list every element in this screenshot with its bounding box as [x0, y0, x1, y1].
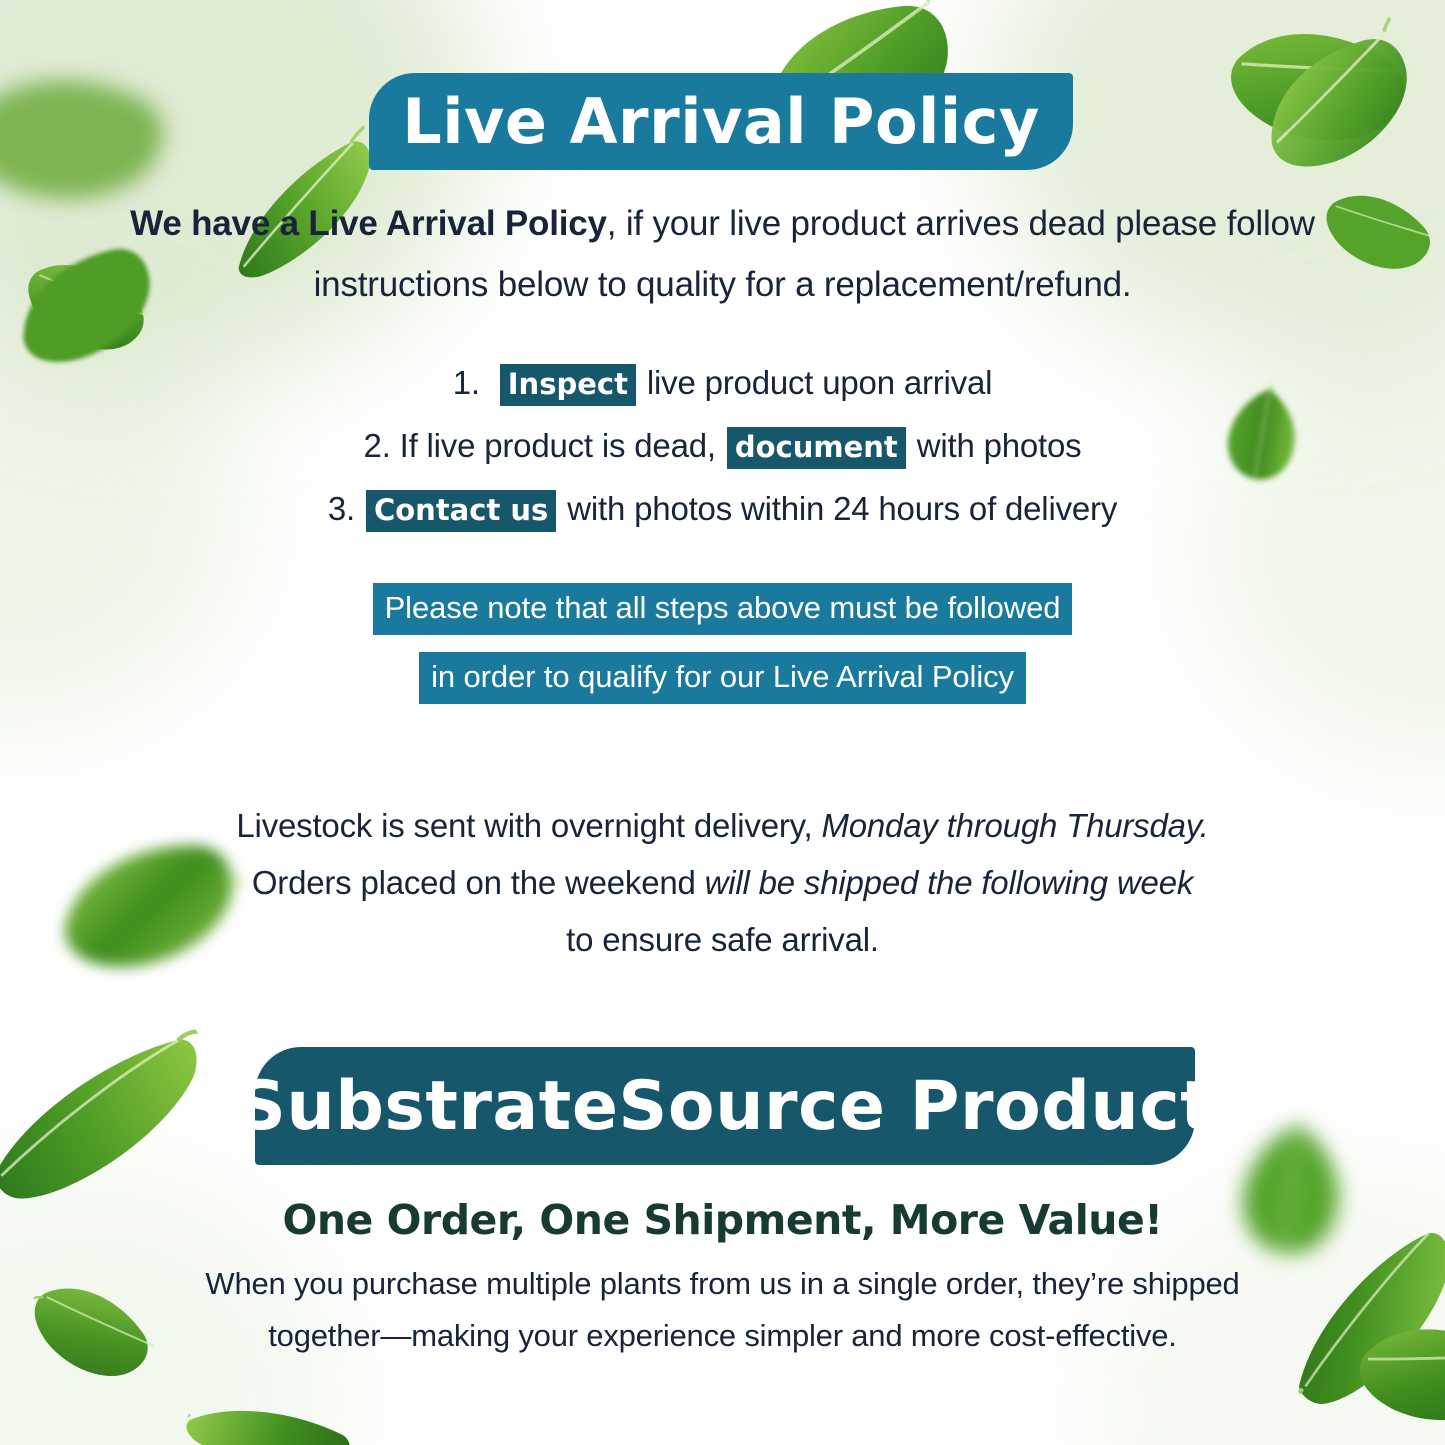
step-2-number: 2.	[364, 427, 391, 464]
intro-paragraph: We have a Live Arrival Policy, if your l…	[0, 193, 1445, 315]
live-arrival-policy-infographic: Live Arrival Policy We have a Live Arriv…	[0, 0, 1445, 1445]
value-proposition-paragraph: When you purchase multiple plants from u…	[0, 1258, 1445, 1362]
shipping-line-2-italic: will be shipped the following week	[705, 864, 1194, 901]
step-1-number: 1.	[453, 364, 480, 401]
policy-note-block: Please note that all steps above must be…	[0, 583, 1445, 721]
policy-steps-list: 1. Inspect live product upon arrival 2. …	[0, 352, 1445, 541]
value-body-line-1: When you purchase multiple plants from u…	[0, 1258, 1445, 1310]
step-2-before: If live product is dead,	[400, 427, 716, 464]
value-proposition-heading: One Order, One Shipment, More Value!	[0, 1192, 1445, 1248]
shipping-line-2-normal: Orders placed on the weekend	[252, 864, 696, 901]
shipping-line-3: to ensure safe arrival.	[0, 911, 1445, 968]
policy-step-2: 2. If live product is dead, document wit…	[0, 415, 1445, 478]
shipping-schedule-paragraph: Livestock is sent with overnight deliver…	[0, 797, 1445, 968]
live-arrival-policy-title: Live Arrival Policy	[402, 85, 1040, 158]
intro-line-1-rest: , if your live product arrives dead plea…	[607, 204, 1315, 243]
step-1-keyword: Inspect	[500, 364, 636, 406]
intro-line-1: We have a Live Arrival Policy, if your l…	[0, 193, 1445, 254]
policy-note-line-2: in order to qualify for our Live Arrival…	[419, 652, 1026, 704]
step-3-keyword: Contact us	[366, 490, 556, 532]
policy-step-1: 1. Inspect live product upon arrival	[0, 352, 1445, 415]
step-3-after: with photos within 24 hours of delivery	[567, 490, 1117, 527]
intro-bold-phrase: We have a Live Arrival Policy	[130, 204, 607, 243]
policy-step-3: 3. Contact us with photos within 24 hour…	[0, 478, 1445, 541]
shipping-line-1-normal: Livestock is sent with overnight deliver…	[236, 807, 812, 844]
intro-line-2: instructions below to quality for a repl…	[0, 254, 1445, 315]
value-body-line-2: together—making your experience simpler …	[0, 1310, 1445, 1362]
step-1-after: live product upon arrival	[647, 364, 992, 401]
substrate-source-product-banner: SubstrateSource Product	[255, 1047, 1195, 1165]
shipping-line-1-italic: Monday through Thursday.	[821, 807, 1208, 844]
policy-note-row-2: in order to qualify for our Live Arrival…	[0, 652, 1445, 704]
live-arrival-policy-banner: Live Arrival Policy	[369, 73, 1073, 170]
shipping-line-1: Livestock is sent with overnight deliver…	[0, 797, 1445, 854]
step-2-after: with photos	[917, 427, 1082, 464]
shipping-line-2: Orders placed on the weekend will be shi…	[0, 854, 1445, 911]
content-layer: Live Arrival Policy We have a Live Arriv…	[0, 0, 1445, 1445]
step-3-number: 3.	[328, 490, 355, 527]
step-2-keyword: document	[727, 427, 906, 469]
policy-note-row-1: Please note that all steps above must be…	[0, 583, 1445, 635]
substrate-source-product-title: SubstrateSource Product	[237, 1067, 1213, 1146]
policy-note-line-1: Please note that all steps above must be…	[373, 583, 1073, 635]
